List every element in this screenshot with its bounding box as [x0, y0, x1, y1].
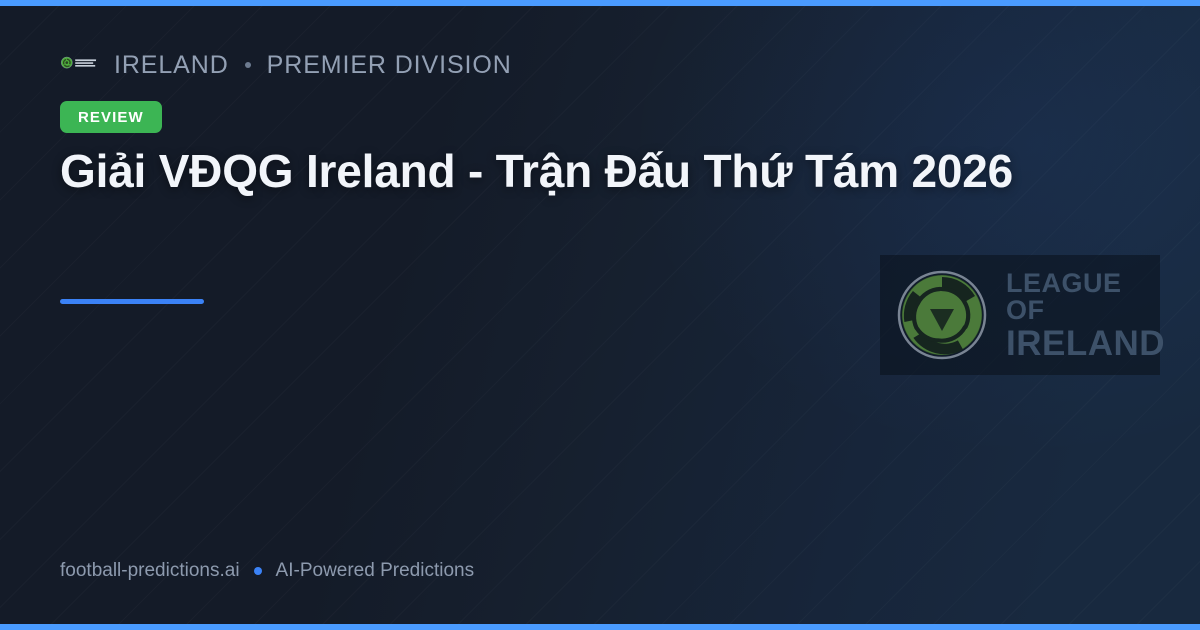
league-wordmark-line-1: LEAGUE OF	[1006, 270, 1165, 324]
league-wordmark: LEAGUE OF IRELAND	[1006, 270, 1165, 361]
blue-dot-icon	[254, 567, 262, 575]
footer: football-predictions.ai AI-Powered Predi…	[60, 560, 474, 582]
league-of-ireland-crest-icon	[892, 265, 992, 365]
title-accent-bar	[60, 299, 204, 304]
league-of-ireland-crest-icon	[60, 47, 100, 83]
breadcrumb-text: IRELAND PREMIER DIVISION	[114, 51, 512, 80]
status-badge: REVIEW	[60, 101, 162, 133]
league-wordmark-line-2: IRELAND	[1006, 326, 1165, 361]
page-title: Giải VĐQG Ireland - Trận Đấu Thứ Tám 202…	[60, 144, 1070, 198]
league-logo-panel: LEAGUE OF IRELAND	[880, 255, 1160, 375]
breadcrumb-country: IRELAND	[114, 51, 229, 80]
card-content: IRELAND PREMIER DIVISION REVIEW Giải VĐQ…	[0, 0, 1200, 630]
footer-tagline: AI-Powered Predictions	[276, 560, 475, 582]
breadcrumb-separator-icon	[245, 62, 251, 68]
breadcrumb: IRELAND PREMIER DIVISION	[60, 47, 512, 83]
breadcrumb-competition: PREMIER DIVISION	[267, 51, 512, 80]
footer-site: football-predictions.ai	[60, 560, 240, 582]
preview-card: IRELAND PREMIER DIVISION REVIEW Giải VĐQ…	[0, 0, 1200, 630]
